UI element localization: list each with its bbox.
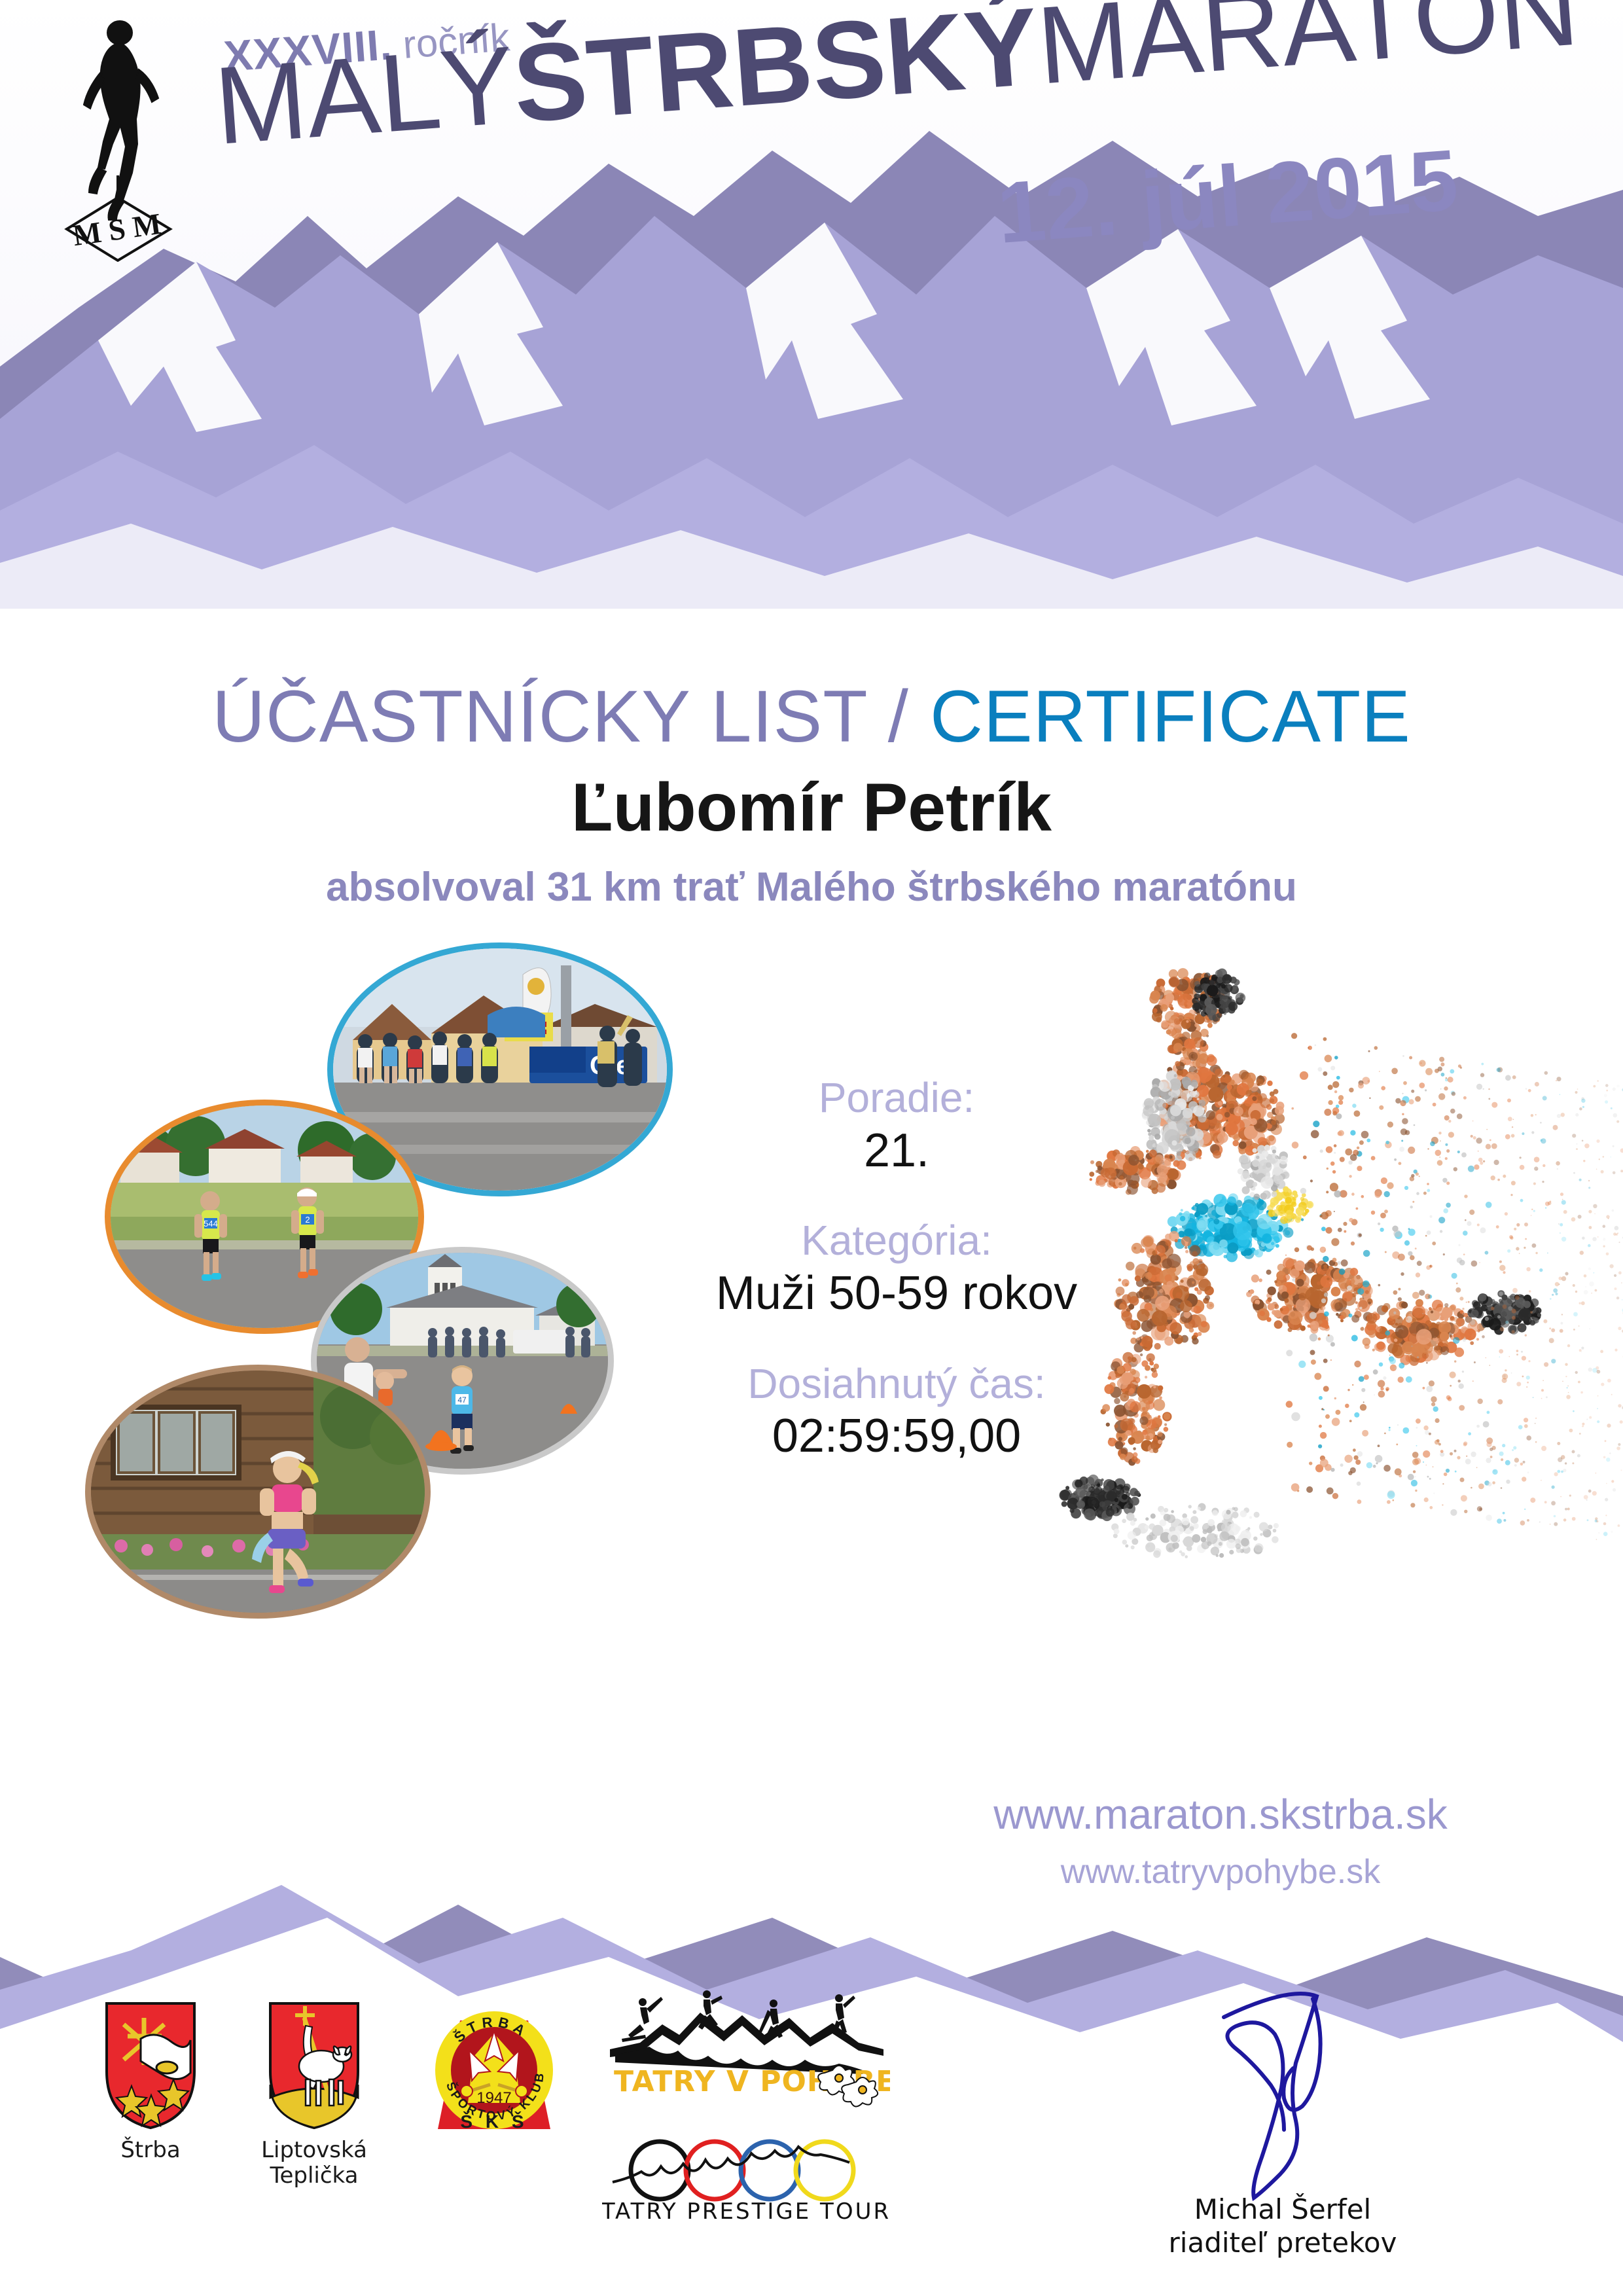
tatry-prestige-tour-logo-icon: TATRY PRESTIGE TOUR — [602, 2136, 890, 2228]
svg-text:M S M: M S M — [71, 207, 163, 252]
signature-block: Michal Šerfel riaditeľ pretekov — [1113, 2193, 1453, 2259]
svg-text:Š K Š: Š K Š — [460, 2111, 527, 2132]
participant-name: Ľubomír Petrík — [0, 769, 1623, 847]
logo-tatry-group: TATRY V POHYBE TATRY PRESTIGE TOUR — [589, 1986, 903, 2231]
tatry-v-pohybe-logo-icon: TATRY V POHYBE — [602, 1986, 890, 2137]
logo-liptovska-teplicka: LiptovskáTeplička — [242, 2000, 386, 2189]
logo-caption-strba: Štrba — [85, 2138, 216, 2163]
svg-text:2: 2 — [305, 1215, 310, 1225]
certificate-heading: ÚČASTNÍCKY LIST / CERTIFICATE — [0, 674, 1623, 759]
heading-separator: / — [867, 675, 930, 757]
photo-collage: Cie — [85, 936, 707, 1826]
race-director-signature — [1198, 1990, 1394, 2206]
photo-woman-runner — [85, 1365, 431, 1619]
signature-name: Michal Šerfel — [1113, 2193, 1453, 2226]
certificate-page: M S M XXXVIII. ročník MALÝŠTRBSKÝMARATÓN… — [0, 0, 1623, 2296]
logo-sks-club: 1947 ŠTRBA ŠPORTOVÝ KLUB Š K Š — [419, 1993, 569, 2144]
heading-slovak: ÚČASTNÍCKY LIST — [212, 675, 866, 757]
primary-website-link[interactable]: www.maraton.skstrba.sk — [844, 1790, 1597, 1839]
tatry-prestige-tour-wordmark: TATRY PRESTIGE TOUR — [602, 2198, 890, 2225]
particle-runner-graphic — [1001, 956, 1623, 1767]
signature-role: riaditeľ pretekov — [1113, 2226, 1453, 2259]
sks-year: 1947 — [476, 2089, 511, 2107]
certificate-subtitle: absolvoval 31 km trať Malého štrbského m… — [0, 864, 1623, 910]
svg-text:544: 544 — [204, 1219, 218, 1229]
svg-text:47: 47 — [457, 1395, 467, 1405]
heading-english: CERTIFICATE — [930, 675, 1411, 757]
msm-runner-logo-icon: M S M — [52, 13, 190, 262]
sks-club-logo-icon: 1947 ŠTRBA ŠPORTOVÝ KLUB Š K Š — [422, 1993, 566, 2140]
title-part-1: MALÝ — [211, 23, 518, 168]
logo-strba: Štrba — [85, 2000, 216, 2163]
logo-caption-liptovska: LiptovskáTeplička — [242, 2138, 386, 2189]
liptovska-teplicka-coat-of-arms-icon — [265, 2000, 363, 2130]
header-banner: M S M XXXVIII. ročník MALÝŠTRBSKÝMARATÓN… — [0, 0, 1623, 641]
strba-coat-of-arms-icon — [101, 2000, 200, 2130]
